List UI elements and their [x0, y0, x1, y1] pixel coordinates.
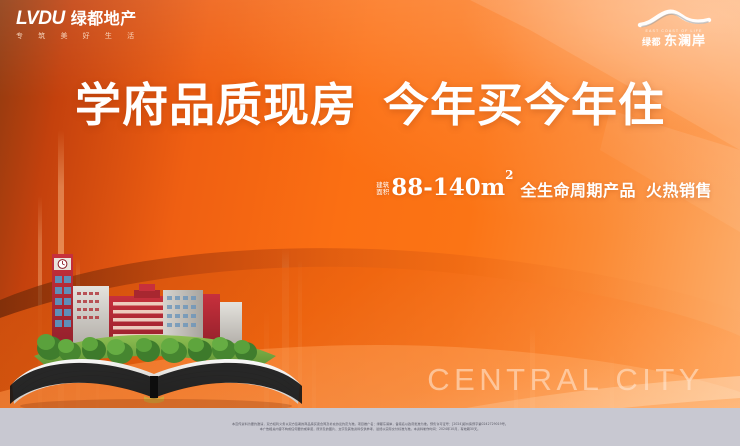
- poster-root: LVDU 绿都地产 专 筑 美 好 生 活 EAST COAST OF LIFE…: [0, 0, 740, 446]
- footer-disclaimer: 本宣传资料为要约邀请，双方权利义务以双方签署的商品房买卖合同及补充协议约定为准。…: [0, 408, 740, 446]
- project-logo[interactable]: EAST COAST OF LIFE 绿都 东澜岸: [622, 8, 726, 52]
- headline-part-2: 今年买今年住: [383, 78, 665, 132]
- page-title: 学府品质现房今年买今年住: [0, 82, 740, 128]
- area-superscript: 2: [505, 168, 513, 182]
- disclaimer-line-2: 本广告相关内容不构成任何要约或承诺，所涉及的图片、文字及其他资料仅供参考，最终以…: [260, 427, 481, 432]
- area-range-value: 88-140m: [391, 174, 505, 201]
- developer-logo-row: LVDU 绿都地产: [16, 9, 148, 28]
- area-prefix-line2: 面积: [376, 189, 389, 196]
- developer-logo-chinese: 绿都地产: [71, 11, 137, 27]
- area-range: 88-140m2: [391, 176, 513, 199]
- area-prefix: 建筑 面积: [376, 182, 389, 196]
- developer-logo-latin: LVDU: [16, 9, 65, 28]
- wave-mountain-icon: [636, 8, 712, 28]
- open-book-campus-illustration: [8, 228, 304, 410]
- headline-part-1: 学府品质现房: [75, 78, 357, 132]
- sales-status: 火热销售: [646, 183, 712, 199]
- project-logo-brand: 绿都: [642, 39, 661, 48]
- project-logo-english: EAST COAST OF LIFE: [645, 29, 702, 33]
- project-logo-name: 东澜岸: [664, 35, 706, 48]
- watermark-text: CENTRAL CITY: [427, 362, 704, 398]
- developer-logo-tagline: 专 筑 美 好 生 活: [16, 33, 148, 40]
- project-logo-text-row: 绿都 东澜岸: [642, 35, 706, 48]
- product-feature: 全生命周期产品: [520, 183, 636, 199]
- developer-logo[interactable]: LVDU 绿都地产 专 筑 美 好 生 活: [16, 9, 148, 45]
- subtitle-row: 建筑 面积 88-140m2 全生命周期产品 火热销售: [376, 176, 712, 199]
